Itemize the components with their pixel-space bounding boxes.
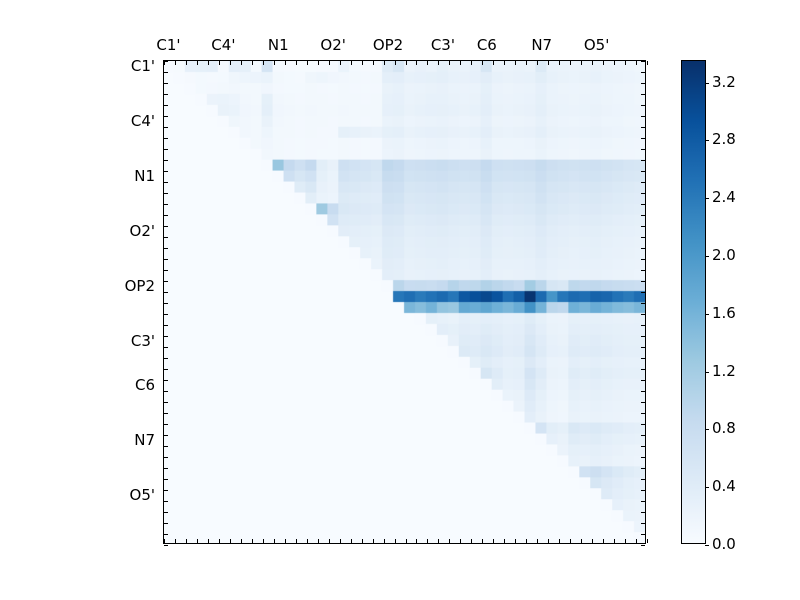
- colorbar-tick-6: [705, 198, 709, 199]
- heatmap-image: [164, 61, 645, 543]
- colorbar-tick-label-5: 2.0: [712, 246, 736, 264]
- x-tick-label-0: C1': [156, 36, 180, 54]
- colorbar-tick-label-3: 1.2: [712, 362, 736, 380]
- figure-canvas: C1'C4'N1O2'OP2C3'C6N7O5' C1'C4'N1O2'OP2C…: [0, 0, 800, 600]
- colorbar-tick-0: [705, 545, 709, 546]
- y-tick-label-5: C3': [131, 332, 155, 350]
- colorbar-gradient: [682, 61, 705, 543]
- x-tick-label-1: C4': [211, 36, 235, 54]
- colorbar-tick-label-1: 0.4: [712, 477, 736, 495]
- colorbar-tick-4: [705, 314, 709, 315]
- y-tick-label-1: C4': [131, 112, 155, 130]
- x-tick-label-8: O5': [584, 36, 609, 54]
- y-tick-label-2: N1: [134, 167, 155, 185]
- colorbar-tick-2: [705, 429, 709, 430]
- x-tick-label-2: N1: [268, 36, 289, 54]
- colorbar-tick-5: [705, 256, 709, 257]
- colorbar-tick-label-2: 0.8: [712, 419, 736, 437]
- colorbar-tick-label-4: 1.6: [712, 304, 736, 322]
- y-tick-label-0: C1': [131, 57, 155, 75]
- colorbar-tick-3: [705, 372, 709, 373]
- y-tick-label-8: O5': [130, 486, 155, 504]
- y-tick-label-4: OP2: [125, 277, 155, 295]
- colorbar-tick-1: [705, 487, 709, 488]
- y-tick-label-3: O2': [130, 222, 155, 240]
- colorbar-tick-label-0: 0.0: [712, 535, 736, 553]
- heatmap-axes: [163, 60, 646, 544]
- colorbar-tick-label-7: 2.8: [712, 130, 736, 148]
- y-tick-label-6: C6: [135, 376, 155, 394]
- x-tick-label-4: OP2: [373, 36, 403, 54]
- colorbar: [681, 60, 706, 544]
- x-tick-label-7: N7: [531, 36, 552, 54]
- colorbar-tick-8: [705, 83, 709, 84]
- colorbar-tick-7: [705, 140, 709, 141]
- colorbar-tick-label-8: 3.2: [712, 73, 736, 91]
- y-tick-label-7: N7: [134, 431, 155, 449]
- x-tick-label-5: C3': [431, 36, 455, 54]
- colorbar-tick-label-6: 2.4: [712, 188, 736, 206]
- x-tick-label-3: O2': [320, 36, 345, 54]
- x-tick-label-6: C6: [477, 36, 497, 54]
